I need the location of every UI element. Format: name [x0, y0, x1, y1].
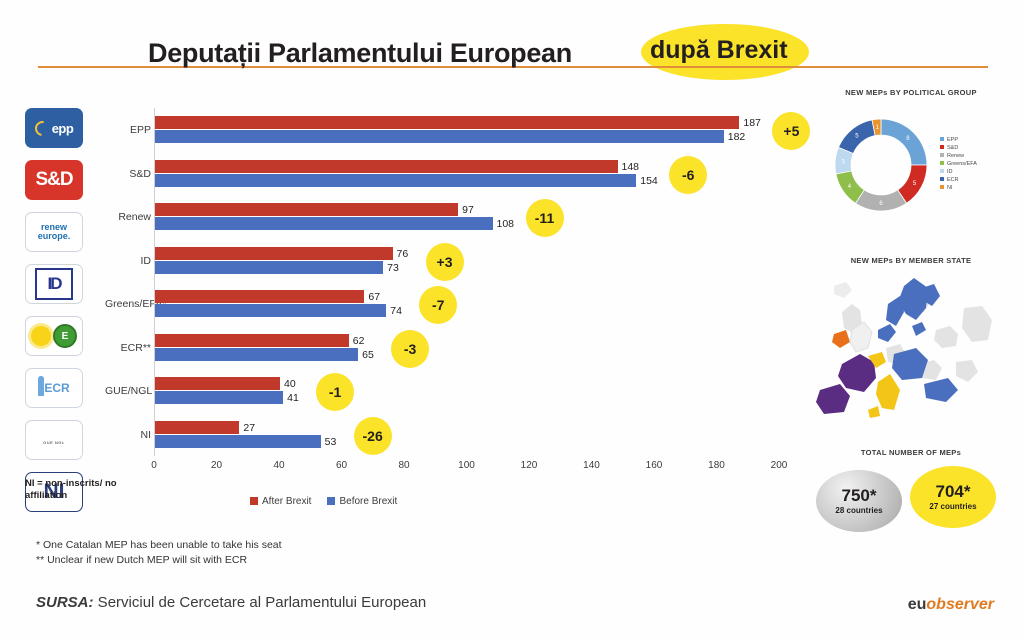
bar-before-brexit [155, 391, 283, 404]
donut-legend-item: Renew [940, 152, 977, 160]
euobserver-logo: euobserver [908, 596, 994, 614]
total-after-brexit: 704* 27 countries [910, 466, 996, 528]
delta-badge: +5 [772, 112, 810, 150]
bar-after-brexit [155, 290, 364, 303]
bar-after-brexit [155, 377, 280, 390]
logo-ecr: ECR [25, 368, 83, 408]
total-before-countries: 28 countries [835, 506, 882, 515]
donut-legend-item: Greens/EFA [940, 160, 977, 168]
totals-group: 750* 28 countries 704* 27 countries [806, 460, 1016, 540]
category-label: NI [105, 429, 151, 441]
chart-legend: After Brexit Before Brexit [250, 496, 397, 507]
bar-before-brexit [155, 348, 358, 361]
bar-value-after: 187 [743, 117, 761, 129]
legend-swatch-after-icon [250, 497, 258, 505]
sun-icon [31, 326, 51, 346]
logo-renew: renew europe. [25, 212, 83, 252]
donut-legend-swatch-icon [940, 177, 944, 181]
x-tick-label: 120 [521, 460, 538, 471]
delta-badge: -6 [669, 156, 707, 194]
donut-legend-label: Renew [947, 153, 964, 159]
delta-badge: -7 [419, 286, 457, 324]
x-tick-label: 40 [273, 460, 284, 471]
donut-svg: 8564351 [826, 110, 936, 220]
donut-legend-item: S&D [940, 144, 977, 152]
bar-before-brexit [155, 304, 386, 317]
map-title: NEW MEPs BY MEMBER STATE [806, 256, 1016, 265]
donut-legend-label: ECR [947, 177, 959, 183]
category-label: ID [105, 255, 151, 267]
x-tick-label: 140 [583, 460, 600, 471]
title-area: Deputații Parlamentului European după Br… [0, 18, 1024, 70]
globe-icon: E [53, 324, 77, 348]
x-tick-label: 160 [646, 460, 663, 471]
logo-gue-label: GUE NGL [43, 440, 65, 445]
donut-legend-item: NI [940, 184, 977, 192]
title-highlight-text: după Brexit [650, 36, 788, 65]
category-label: S&D [105, 168, 151, 180]
bar-value-before: 108 [497, 218, 515, 230]
bar-value-before: 74 [390, 305, 402, 317]
bar-value-before: 41 [287, 392, 299, 404]
plot-area: 1871821481549710876736774626540412753 +5… [154, 108, 779, 456]
x-axis: 020406080100120140160180200 [154, 460, 779, 478]
legend-swatch-before-icon [327, 497, 335, 505]
source-line: SURSA: Serviciul de Cercetare al Parlame… [36, 594, 426, 611]
delta-badge: +3 [426, 243, 464, 281]
bar-value-before: 65 [362, 349, 374, 361]
logo-sd-label: S&D [35, 169, 72, 191]
id-badge-icon: ID [35, 268, 73, 300]
page-title: Deputații Parlamentului European [148, 38, 572, 69]
infographic-page: Deputații Parlamentului European după Br… [0, 0, 1024, 639]
ni-footnote: NI = non-inscrits/ no affiliation [25, 478, 135, 502]
footnote-one: * One Catalan MEP has been unable to tak… [36, 538, 282, 553]
bar-after-brexit [155, 160, 618, 173]
bar-value-before: 154 [640, 175, 658, 187]
logo-ecr-label: ECR [44, 381, 69, 395]
donut-legend-swatch-icon [940, 137, 944, 141]
donut-legend-label: Greens/EFA [947, 161, 977, 167]
bar-before-brexit [155, 174, 636, 187]
category-label: ECR** [105, 342, 151, 354]
bar-value-after: 67 [368, 291, 380, 303]
donut-legend-label: S&D [947, 145, 958, 151]
bar-before-brexit [155, 217, 493, 230]
brand-observer: observer [926, 596, 994, 613]
bar-before-brexit [155, 130, 724, 143]
legend-after-label: After Brexit [262, 496, 311, 507]
bar-value-after: 148 [622, 161, 640, 173]
legend-before-label: Before Brexit [339, 496, 397, 507]
delta-badge: -3 [391, 330, 429, 368]
bar-after-brexit [155, 203, 458, 216]
total-after-number: 704* [936, 483, 971, 500]
x-tick-label: 0 [151, 460, 157, 471]
donut-legend-swatch-icon [940, 153, 944, 157]
delta-badge: -26 [354, 417, 392, 455]
category-label: EPP [105, 124, 151, 136]
source-text: Serviciul de Cercetare al Parlamentului … [94, 594, 427, 611]
europe-map [816, 268, 1006, 418]
donut-legend-label: NI [947, 185, 953, 191]
donut-legend-item: ID [940, 168, 977, 176]
logo-sd: S&D [25, 160, 83, 200]
donut-legend-label: ID [947, 169, 953, 175]
category-label: Renew [105, 211, 151, 223]
bar-before-brexit [155, 261, 383, 274]
logo-epp: epp [25, 108, 83, 148]
x-tick-label: 200 [771, 460, 788, 471]
footnotes: * One Catalan MEP has been unable to tak… [36, 538, 282, 568]
category-label: Greens/EFA* [105, 298, 151, 310]
legend-before-brexit: Before Brexit [327, 496, 397, 507]
donut-legend-swatch-icon [940, 169, 944, 173]
donut-legend-item: ECR [940, 176, 977, 184]
right-panel: NEW MEPs BY POLITICAL GROUP 8564351 EPPS… [806, 88, 1016, 558]
bar-value-before: 182 [728, 131, 746, 143]
bar-after-brexit [155, 247, 393, 260]
x-tick-label: 60 [336, 460, 347, 471]
bar-before-brexit [155, 435, 321, 448]
x-tick-label: 100 [458, 460, 475, 471]
brand-eu: eu [908, 596, 927, 613]
footnote-two: ** Unclear if new Dutch MEP will sit wit… [36, 553, 282, 568]
map-svg [816, 268, 1006, 418]
bar-value-after: 40 [284, 378, 296, 390]
bar-value-after: 27 [243, 422, 255, 434]
delta-badge: -11 [526, 199, 564, 237]
logo-renew-label: renew europe. [26, 223, 82, 241]
x-tick-label: 20 [211, 460, 222, 471]
epp-crescent-icon [32, 118, 53, 139]
bar-chart: EPPS&DRenewIDGreens/EFA*ECR**GUE/NGLNI 1… [105, 108, 805, 468]
donut-legend-swatch-icon [940, 161, 944, 165]
bar-value-before: 53 [325, 436, 337, 448]
donut-chart: 8564351 [826, 110, 936, 220]
logo-epp-label: epp [52, 121, 74, 136]
totals-title: TOTAL NUMBER OF MEPs [806, 448, 1016, 457]
donut-legend-label: EPP [947, 137, 958, 143]
x-tick-label: 80 [398, 460, 409, 471]
donut-title: NEW MEPs BY POLITICAL GROUP [806, 88, 1016, 97]
bar-value-after: 76 [397, 248, 409, 260]
x-tick-label: 180 [708, 460, 725, 471]
total-before-number: 750* [842, 487, 877, 504]
logo-gue-ngl: GUE NGL [25, 420, 83, 460]
donut-legend: EPPS&DRenewGreens/EFAIDECRNI [940, 136, 977, 192]
total-before-brexit: 750* 28 countries [816, 470, 902, 532]
bar-value-before: 73 [387, 262, 399, 274]
donut-legend-item: EPP [940, 136, 977, 144]
bar-after-brexit [155, 421, 239, 434]
bar-after-brexit [155, 334, 349, 347]
party-logo-column: epp S&D renew europe. ID E ECR GUE NGL [25, 108, 91, 478]
logo-id: ID [25, 264, 83, 304]
donut-legend-swatch-icon [940, 185, 944, 189]
bar-after-brexit [155, 116, 739, 129]
total-after-countries: 27 countries [929, 502, 976, 511]
bar-value-after: 97 [462, 204, 474, 216]
delta-badge: -1 [316, 373, 354, 411]
source-label: SURSA: [36, 594, 94, 611]
donut-slice [881, 119, 927, 165]
logo-id-label: ID [48, 274, 61, 294]
bar-value-after: 62 [353, 335, 365, 347]
legend-after-brexit: After Brexit [250, 496, 311, 507]
logo-greens: E [25, 316, 83, 356]
donut-legend-swatch-icon [940, 145, 944, 149]
category-label: GUE/NGL [105, 385, 151, 397]
